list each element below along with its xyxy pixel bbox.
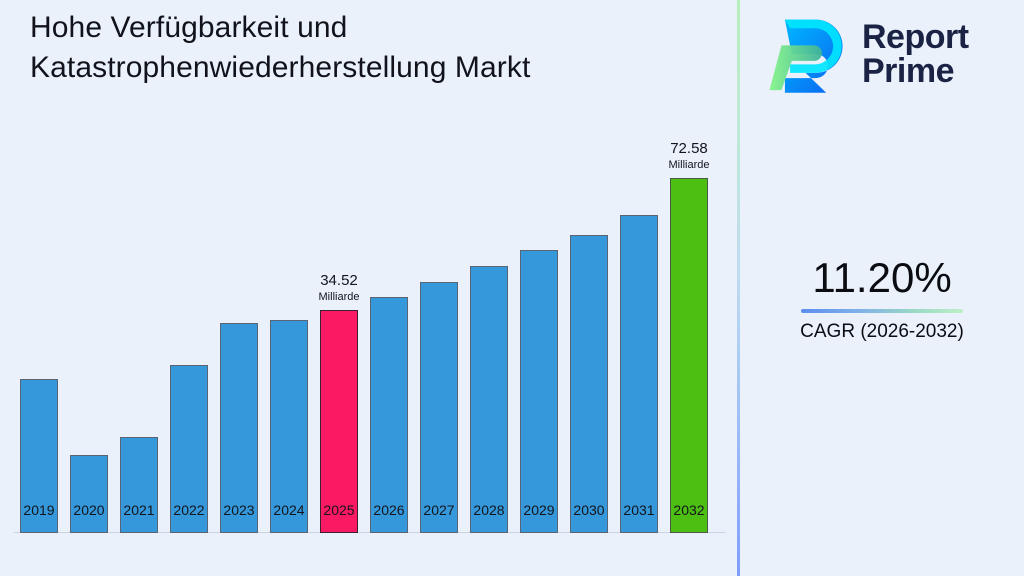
cagr-divider — [801, 309, 963, 313]
bar-value-label-2025: 34.52Milliarde — [306, 272, 372, 304]
x-axis-tick-2026: 2026 — [363, 502, 415, 518]
chart-panel: Hohe Verfügbarkeit und Katastrophenwiede… — [0, 0, 738, 576]
x-axis-tick-2024: 2024 — [263, 502, 315, 518]
bar-2027[interactable] — [420, 282, 458, 533]
bar-2025[interactable] — [320, 310, 358, 533]
x-axis-tick-2019: 2019 — [13, 502, 65, 518]
bar-2028[interactable] — [470, 266, 508, 533]
cagr-block: 11.20% CAGR (2026-2032) — [740, 253, 1024, 344]
cagr-value: 11.20% — [740, 253, 1024, 303]
brand-logo: Report Prime — [766, 6, 1006, 102]
x-axis-tick-2021: 2021 — [113, 502, 165, 518]
bar-2031[interactable] — [620, 215, 658, 533]
bar-2030[interactable] — [570, 235, 608, 533]
right-panel: Report Prime 11.20% CAGR (2026-2032) — [740, 0, 1024, 576]
x-axis-tick-2027: 2027 — [413, 502, 465, 518]
x-axis-tick-2025: 2025 — [313, 502, 365, 518]
bar-value-number: 72.58 — [656, 140, 722, 158]
x-axis-tick-2031: 2031 — [613, 502, 665, 518]
brand-name-line1: Report — [862, 20, 969, 54]
cagr-caption: CAGR (2026-2032) — [740, 320, 1024, 344]
bar-2029[interactable] — [520, 250, 558, 533]
bar-value-label-2032: 72.58Milliarde — [656, 140, 722, 172]
x-axis-tick-2030: 2030 — [563, 502, 615, 518]
bar-value-number: 34.52 — [306, 272, 372, 290]
bar-value-unit: Milliarde — [656, 158, 722, 172]
brand-name-line2: Prime — [862, 54, 969, 88]
x-axis-tick-2029: 2029 — [513, 502, 565, 518]
bar-2021[interactable] — [120, 437, 158, 533]
bar-2032[interactable] — [670, 178, 708, 533]
x-axis-tick-2020: 2020 — [63, 502, 115, 518]
brand-name: Report Prime — [862, 20, 969, 88]
bar-2020[interactable] — [70, 455, 108, 533]
x-axis-tick-2028: 2028 — [463, 502, 515, 518]
x-axis-tick-2022: 2022 — [163, 502, 215, 518]
report-prime-logo-icon — [766, 11, 852, 97]
bar-value-unit: Milliarde — [306, 290, 372, 304]
x-axis-tick-2032: 2032 — [663, 502, 715, 518]
x-axis-tick-2023: 2023 — [213, 502, 265, 518]
bar-chart: 20192020202120222023202434.52Milliarde20… — [0, 0, 738, 576]
bar-2026[interactable] — [370, 297, 408, 533]
